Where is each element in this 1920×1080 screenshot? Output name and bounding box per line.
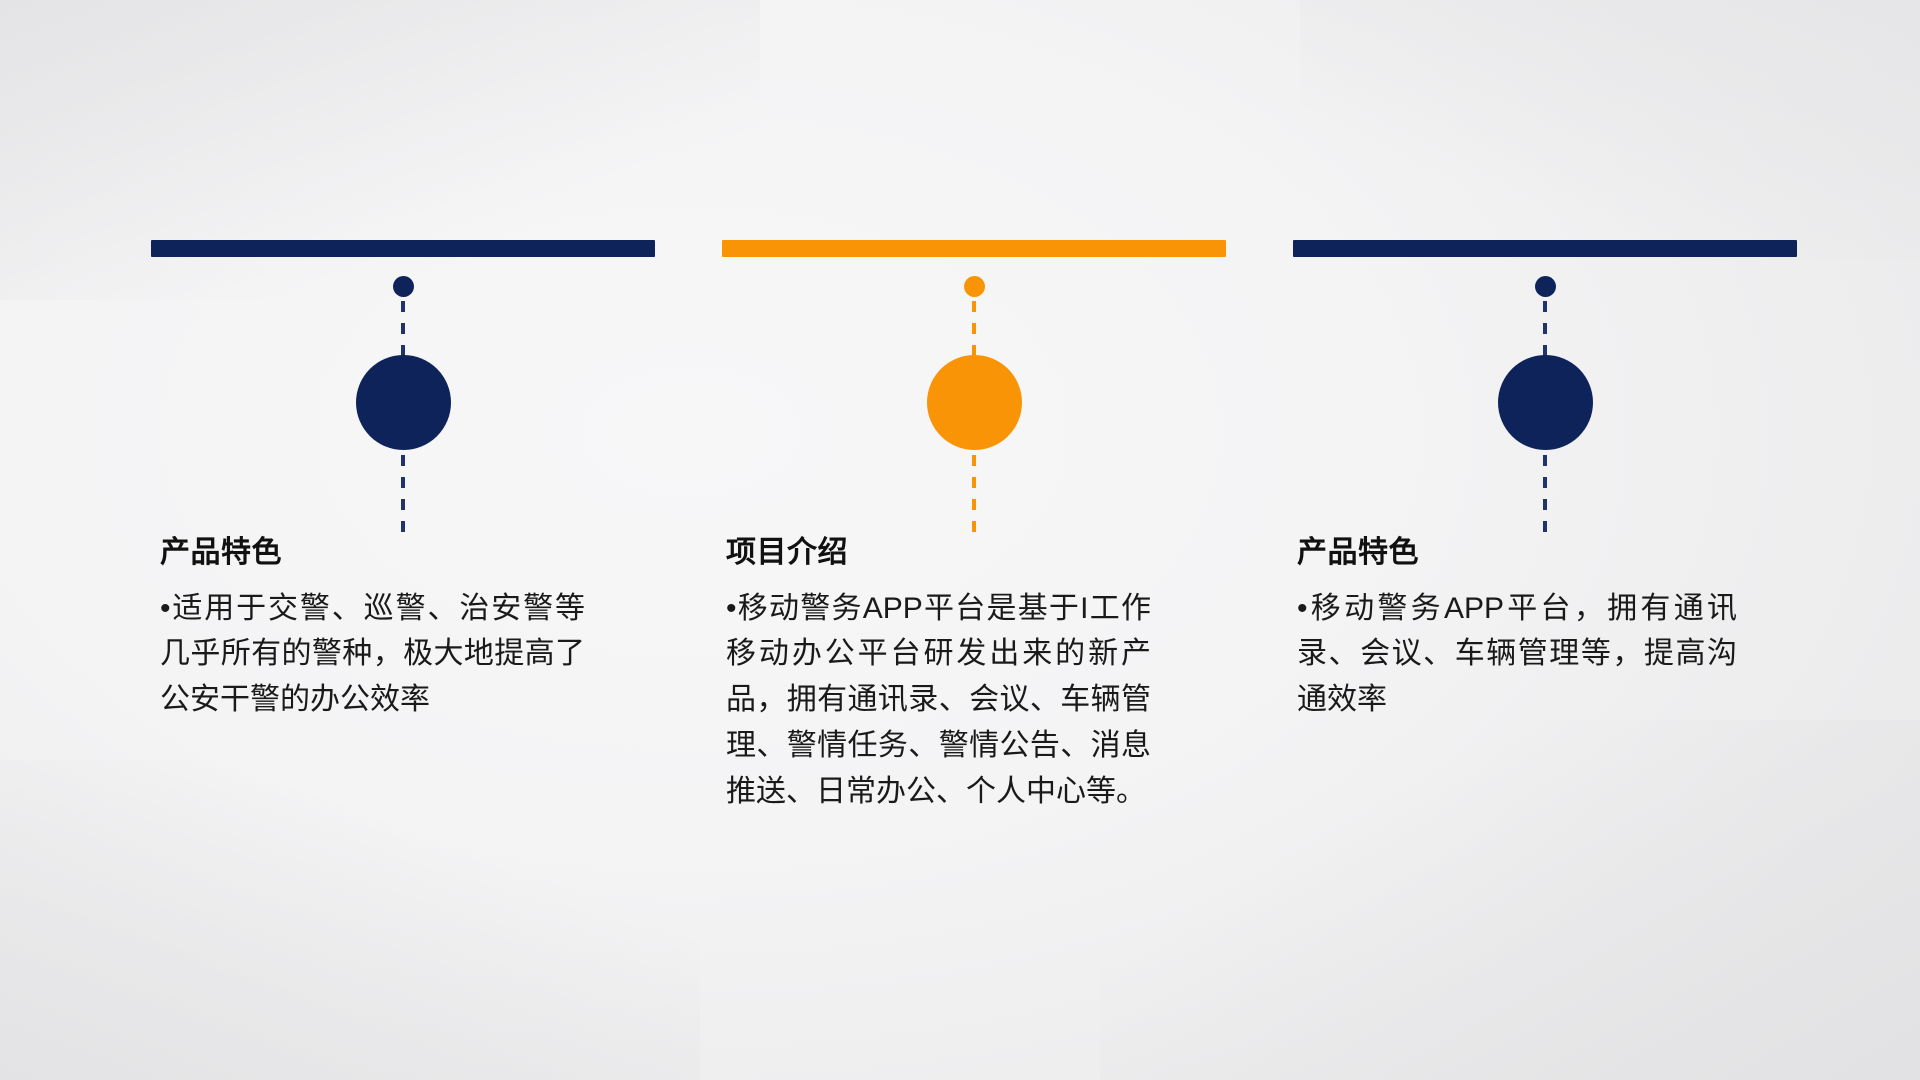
column-1-body: •适用于交警、巡警、治安警等几乎所有的警种，极大地提高了公安干警的办公效率 xyxy=(160,586,585,724)
column-1-text: 产品特色 •适用于交警、巡警、治安警等几乎所有的警种，极大地提高了公安干警的办公… xyxy=(160,534,660,723)
connector-group-3 xyxy=(1293,257,1797,517)
marker-circle-3 xyxy=(1498,355,1593,450)
connector-group-2 xyxy=(722,257,1226,517)
slide-canvas: 产品特色 •适用于交警、巡警、治安警等几乎所有的警种，极大地提高了公安干警的办公… xyxy=(0,0,1920,1080)
column-3-graphic xyxy=(1293,240,1797,517)
column-2-graphic xyxy=(722,240,1226,517)
top-bar-3 xyxy=(1293,240,1797,257)
node-dot-2 xyxy=(964,276,985,297)
node-dot-3 xyxy=(1535,276,1556,297)
marker-circle-1 xyxy=(356,355,451,450)
column-2-text: 项目介绍 •移动警务APP平台是基于I工作移动办公平台研发出来的新产品，拥有通讯… xyxy=(726,534,1226,815)
column-2-title: 项目介绍 xyxy=(726,534,1226,572)
node-dot-1 xyxy=(393,276,414,297)
column-3-body: •移动警务APP平台，拥有通讯录、会议、车辆管理等，提高沟通效率 xyxy=(1297,586,1737,724)
top-bar-2 xyxy=(722,240,1226,257)
column-1-title: 产品特色 xyxy=(160,534,660,572)
column-2-body: •移动警务APP平台是基于I工作移动办公平台研发出来的新产品，拥有通讯录、会议、… xyxy=(726,586,1151,815)
top-bar-1 xyxy=(151,240,655,257)
marker-circle-2 xyxy=(927,355,1022,450)
column-3-title: 产品特色 xyxy=(1297,534,1797,572)
column-3-text: 产品特色 •移动警务APP平台，拥有通讯录、会议、车辆管理等，提高沟通效率 xyxy=(1297,534,1797,723)
connector-group-1 xyxy=(151,257,655,517)
column-1-graphic xyxy=(151,240,655,517)
